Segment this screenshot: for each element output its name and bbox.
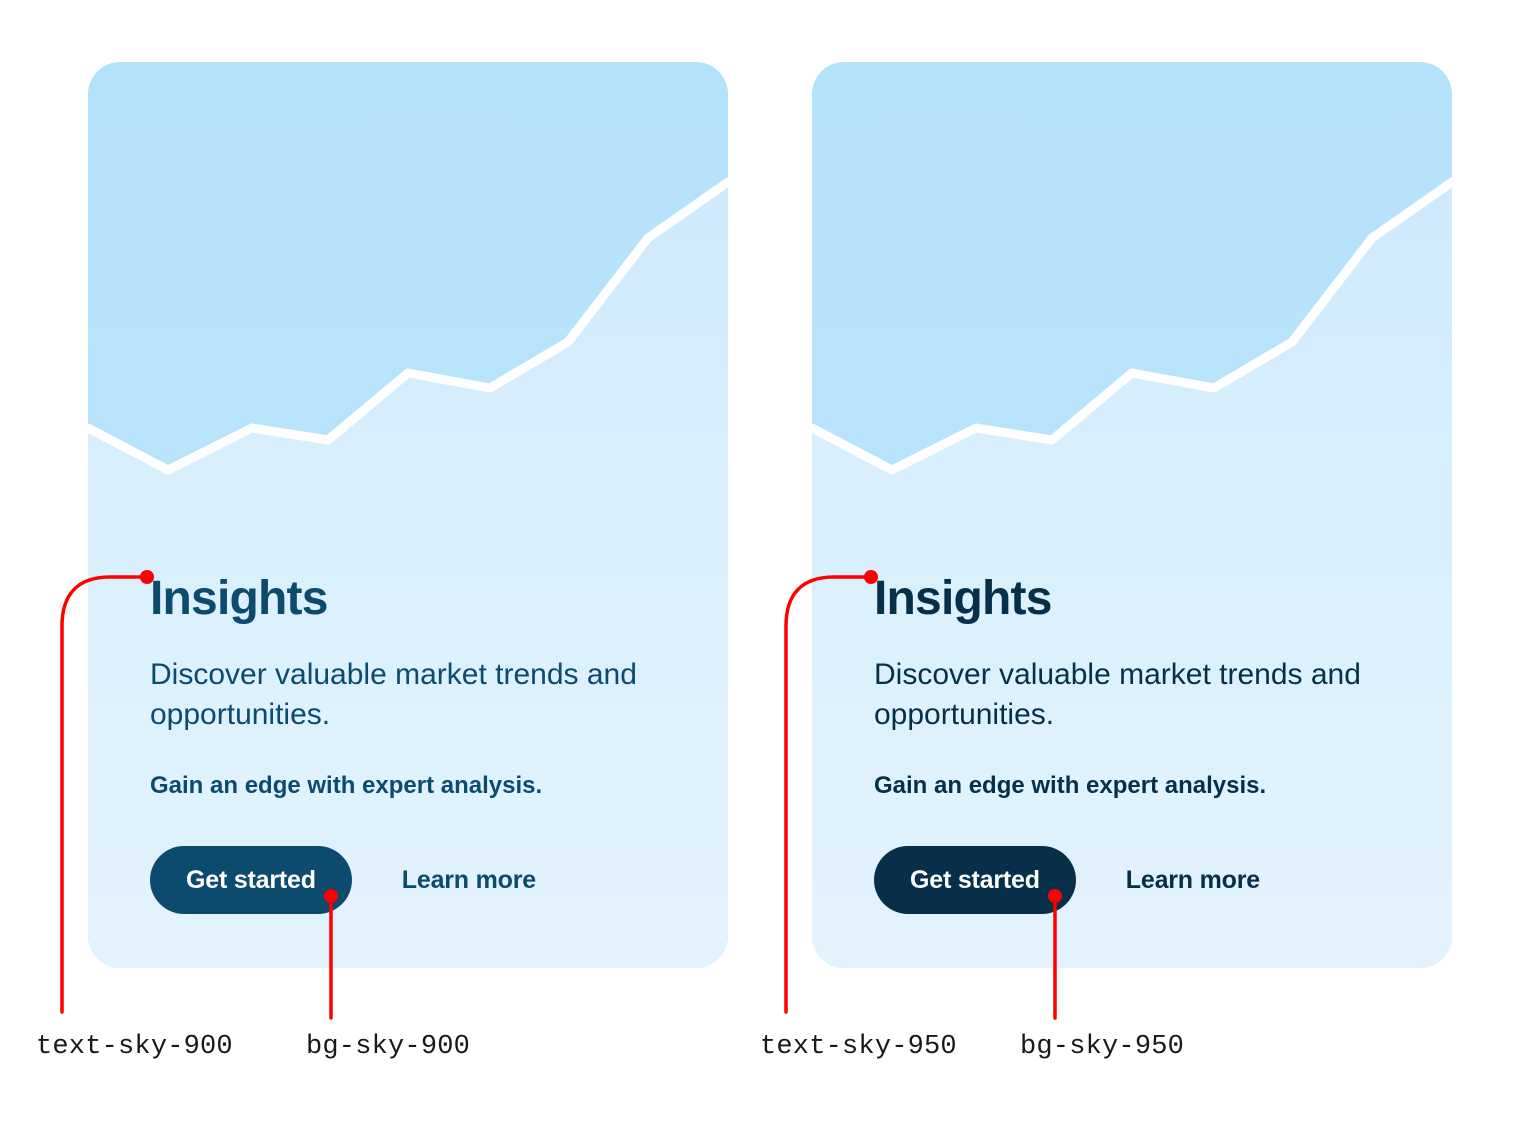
card-actions: Get started Learn more [150, 846, 688, 914]
card-subheading: Gain an edge with expert analysis. [874, 770, 1412, 802]
insights-card-sky-900: Insights Discover valuable market trends… [88, 62, 728, 968]
card-body: Insights Discover valuable market trends… [874, 574, 1412, 914]
annotation-label-text-sky-900: text-sky-900 [36, 1032, 233, 1062]
annotation-label-bg-sky-950: bg-sky-950 [1020, 1032, 1184, 1062]
card-description: Discover valuable market trends and oppo… [150, 655, 670, 735]
card-title: Insights [150, 574, 688, 625]
learn-more-link[interactable]: Learn more [402, 866, 536, 895]
card-actions: Get started Learn more [874, 846, 1412, 914]
insights-card-sky-950: Insights Discover valuable market trends… [812, 62, 1452, 968]
card-body: Insights Discover valuable market trends… [150, 574, 688, 914]
annotation-label-bg-sky-900: bg-sky-900 [306, 1032, 470, 1062]
card-subheading: Gain an edge with expert analysis. [150, 770, 688, 802]
card-description: Discover valuable market trends and oppo… [874, 655, 1394, 735]
annotation-label-text-sky-950: text-sky-950 [760, 1032, 957, 1062]
get-started-button[interactable]: Get started [874, 846, 1076, 914]
get-started-button[interactable]: Get started [150, 846, 352, 914]
comparison-stage: Insights Discover valuable market trends… [0, 0, 1536, 1134]
card-title: Insights [874, 574, 1412, 625]
learn-more-link[interactable]: Learn more [1126, 866, 1260, 895]
